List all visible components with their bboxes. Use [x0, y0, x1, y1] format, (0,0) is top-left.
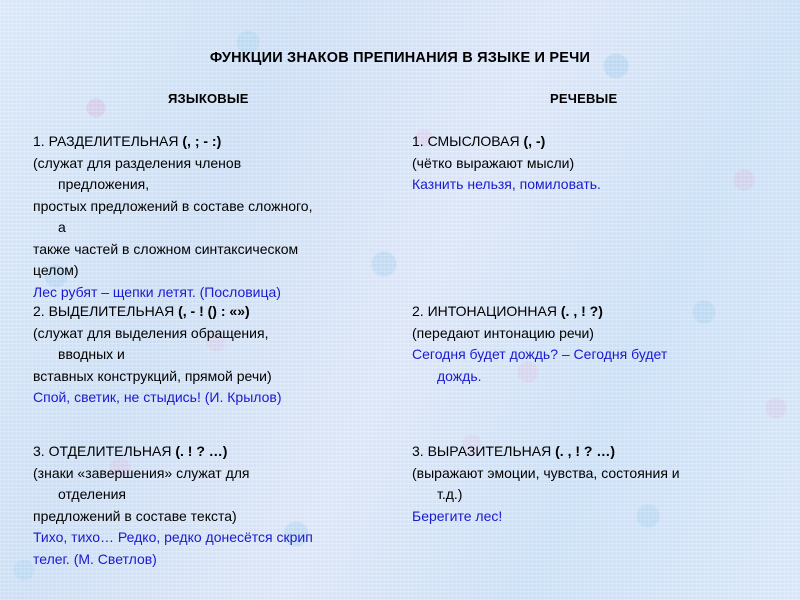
function-heading: 2. ВЫДЕЛИТЕЛЬНАЯ (, - ! () : «»)	[33, 301, 403, 323]
function-example-line: телег. (М. Светлов)	[33, 549, 403, 571]
function-block: 1. СМЫСЛОВАЯ (, -)(чётко выражают мысли)…	[412, 131, 782, 196]
function-block: 3. ВЫРАЗИТЕЛЬНАЯ (. , ! ? …)(выражают эм…	[412, 441, 782, 527]
function-example-line: Спой, светик, не стыдись! (И. Крылов)	[33, 387, 403, 409]
function-heading: 3. ВЫРАЗИТЕЛЬНАЯ (. , ! ? …)	[412, 441, 782, 463]
function-heading-name: 2. ИНТОНАЦИОННАЯ	[412, 303, 561, 319]
function-description-line: простых предложений в составе сложного,	[33, 196, 403, 218]
function-description-line: (знаки «завершения» служат для	[33, 463, 403, 485]
function-block: 3. ОТДЕЛИТЕЛЬНАЯ (. ! ? …)(знаки «заверш…	[33, 441, 403, 570]
function-heading-punctuation: (. ! ? …)	[175, 443, 227, 459]
function-example-line: Тихо, тихо… Редко, редко донесётся скрип	[33, 527, 403, 549]
function-description-line: целом)	[33, 260, 403, 282]
function-description-line: вставных конструкций, прямой речи)	[33, 366, 403, 388]
function-example-line: Казнить нельзя, помиловать.	[412, 174, 782, 196]
function-block: 2. ВЫДЕЛИТЕЛЬНАЯ (, - ! () : «»)(служат …	[33, 301, 403, 409]
function-example-line: дождь.	[412, 366, 782, 388]
function-heading: 1. СМЫСЛОВАЯ (, -)	[412, 131, 782, 153]
function-example-line: Сегодня будет дождь? – Сегодня будет	[412, 344, 782, 366]
function-block: 2. ИНТОНАЦИОННАЯ (. , ! ?)(передают инто…	[412, 301, 782, 387]
function-description-line: (служат для разделения членов	[33, 153, 403, 175]
function-heading: 2. ИНТОНАЦИОННАЯ (. , ! ?)	[412, 301, 782, 323]
function-description-line: (чётко выражают мысли)	[412, 153, 782, 175]
function-heading-name: 2. ВЫДЕЛИТЕЛЬНАЯ	[33, 303, 178, 319]
function-description-line: (служат для выделения обращения,	[33, 323, 403, 345]
function-heading-punctuation: (. , ! ? …)	[555, 443, 615, 459]
function-description-line: предложений в составе текста)	[33, 506, 403, 528]
function-description-line: (выражают эмоции, чувства, состояния и	[412, 463, 782, 485]
function-description-line: отделения	[33, 484, 403, 506]
function-block: 1. РАЗДЕЛИТЕЛЬНАЯ (, ; - :)(служат для р…	[33, 131, 403, 303]
function-description-line: т.д.)	[412, 484, 782, 506]
column-heading-languages: ЯЗЫКОВЫЕ	[168, 91, 249, 106]
function-example-line: Берегите лес!	[412, 506, 782, 528]
function-heading-punctuation: (, ; - :)	[182, 133, 221, 149]
function-heading-name: 3. ВЫРАЗИТЕЛЬНАЯ	[412, 443, 555, 459]
function-description-line: а	[33, 217, 403, 239]
function-heading-name: 3. ОТДЕЛИТЕЛЬНАЯ	[33, 443, 175, 459]
function-description-line: вводных и	[33, 344, 403, 366]
function-heading-name: 1. СМЫСЛОВАЯ	[412, 133, 524, 149]
function-heading-punctuation: (. , ! ?)	[561, 303, 603, 319]
function-example-line: Лес рубят – щепки летят. (Пословица)	[33, 282, 403, 304]
slide-content: ФУНКЦИИ ЗНАКОВ ПРЕПИНАНИЯ В ЯЗЫКЕ И РЕЧИ…	[0, 0, 800, 600]
function-heading-punctuation: (, - ! () : «»)	[178, 303, 250, 319]
function-description-line: (передают интонацию речи)	[412, 323, 782, 345]
slide-title: ФУНКЦИИ ЗНАКОВ ПРЕПИНАНИЯ В ЯЗЫКЕ И РЕЧИ	[0, 50, 800, 66]
function-description-line: также частей в сложном синтаксическом	[33, 239, 403, 261]
function-heading: 1. РАЗДЕЛИТЕЛЬНАЯ (, ; - :)	[33, 131, 403, 153]
function-heading: 3. ОТДЕЛИТЕЛЬНАЯ (. ! ? …)	[33, 441, 403, 463]
function-heading-name: 1. РАЗДЕЛИТЕЛЬНАЯ	[33, 133, 182, 149]
function-description-line: предложения,	[33, 174, 403, 196]
column-heading-speech: РЕЧЕВЫЕ	[550, 91, 617, 106]
function-heading-punctuation: (, -)	[524, 133, 546, 149]
